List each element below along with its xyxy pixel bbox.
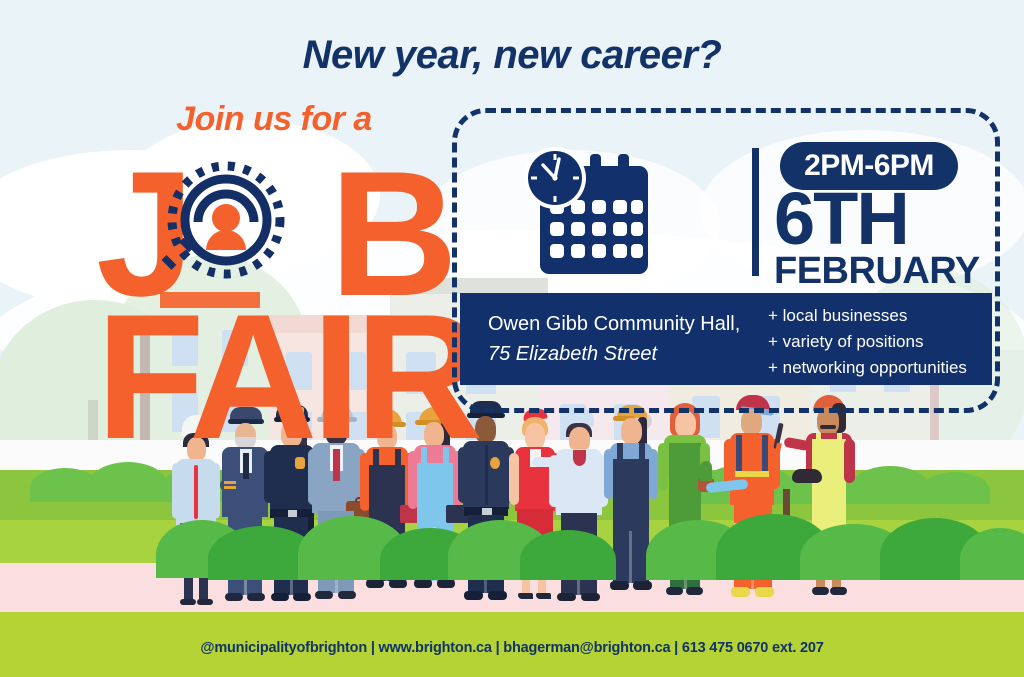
- page-headline: New year, new career?: [0, 33, 1024, 78]
- badge: [490, 457, 500, 469]
- belt-buckle: [482, 508, 492, 515]
- shoe: [666, 587, 683, 595]
- title-fair: FAIR: [96, 288, 477, 466]
- paint-palette: [792, 469, 822, 483]
- venue-block: Owen Gibb Community Hall, 75 Elizabeth S…: [488, 309, 740, 369]
- shoe: [225, 593, 243, 601]
- card-top-row: 2PM-6PM 6TH FEBRUARY: [462, 120, 990, 293]
- shoe: [581, 593, 600, 601]
- clock-calendar-icon: [512, 142, 662, 282]
- venue-name: Owen Gibb Community Hall,: [488, 309, 740, 339]
- plant-leaves: [700, 461, 712, 481]
- event-info-card: 2PM-6PM 6TH FEBRUARY Owen Gibb Community…: [452, 108, 1000, 413]
- head: [675, 411, 696, 437]
- shoe: [180, 599, 196, 605]
- shoe: [488, 591, 507, 600]
- shirt-placket: [485, 445, 488, 505]
- heel-shoe: [518, 593, 533, 599]
- apron: [669, 443, 701, 529]
- shoe: [464, 591, 483, 600]
- moustache: [820, 425, 836, 429]
- shoe: [610, 581, 629, 590]
- belt-buckle: [288, 510, 297, 517]
- job-fair-poster: New year, new career? Join us for a JOB …: [0, 0, 1024, 677]
- shoe: [338, 591, 356, 599]
- shoe: [389, 579, 407, 588]
- boot: [731, 587, 750, 597]
- list-item: + local businesses: [768, 303, 967, 329]
- shoe: [633, 581, 652, 590]
- event-month: FEBRUARY: [774, 252, 984, 290]
- arm: [844, 439, 855, 483]
- boot: [755, 587, 774, 597]
- shoe: [271, 593, 289, 601]
- arm: [658, 443, 668, 491]
- head: [475, 416, 496, 443]
- shoe: [557, 593, 576, 601]
- highlights-list: + local businesses + variety of position…: [768, 303, 967, 381]
- head: [525, 423, 545, 449]
- leg-gap: [629, 531, 632, 583]
- shoe: [812, 587, 829, 595]
- apron-strap: [816, 433, 821, 445]
- cuff-stripe: [224, 486, 236, 489]
- shoe: [414, 579, 432, 588]
- backpack-strap: [736, 435, 742, 471]
- list-item: + variety of positions: [768, 329, 967, 355]
- event-day: 6TH: [774, 182, 974, 256]
- venue-street: 75 Elizabeth Street: [488, 339, 740, 369]
- arm: [509, 453, 519, 505]
- magnifier-person-icon: [160, 158, 300, 298]
- shoe: [686, 587, 703, 595]
- card-bottom-panel: Owen Gibb Community Hall, 75 Elizabeth S…: [460, 293, 992, 385]
- apron-strap: [837, 433, 842, 445]
- reflective-stripe: [730, 471, 774, 477]
- overall-strap: [639, 443, 645, 463]
- neck-tie-scarf: [573, 450, 586, 466]
- footer-contact-info: @municipalityofbrighton | www.brighton.c…: [0, 640, 1024, 656]
- shoe: [437, 579, 455, 588]
- shoe: [366, 579, 384, 588]
- shoe: [315, 591, 333, 599]
- backpack-strap: [762, 435, 768, 471]
- list-item: + networking opportunities: [768, 355, 967, 381]
- bush: [920, 472, 990, 504]
- bush: [850, 466, 930, 504]
- cuff-stripe: [224, 481, 236, 484]
- overall-strap: [617, 443, 623, 463]
- shoe: [197, 599, 213, 605]
- card-vertical-divider: [752, 148, 759, 276]
- head: [621, 418, 642, 444]
- shoe: [830, 587, 847, 595]
- arm-extended: [532, 457, 556, 467]
